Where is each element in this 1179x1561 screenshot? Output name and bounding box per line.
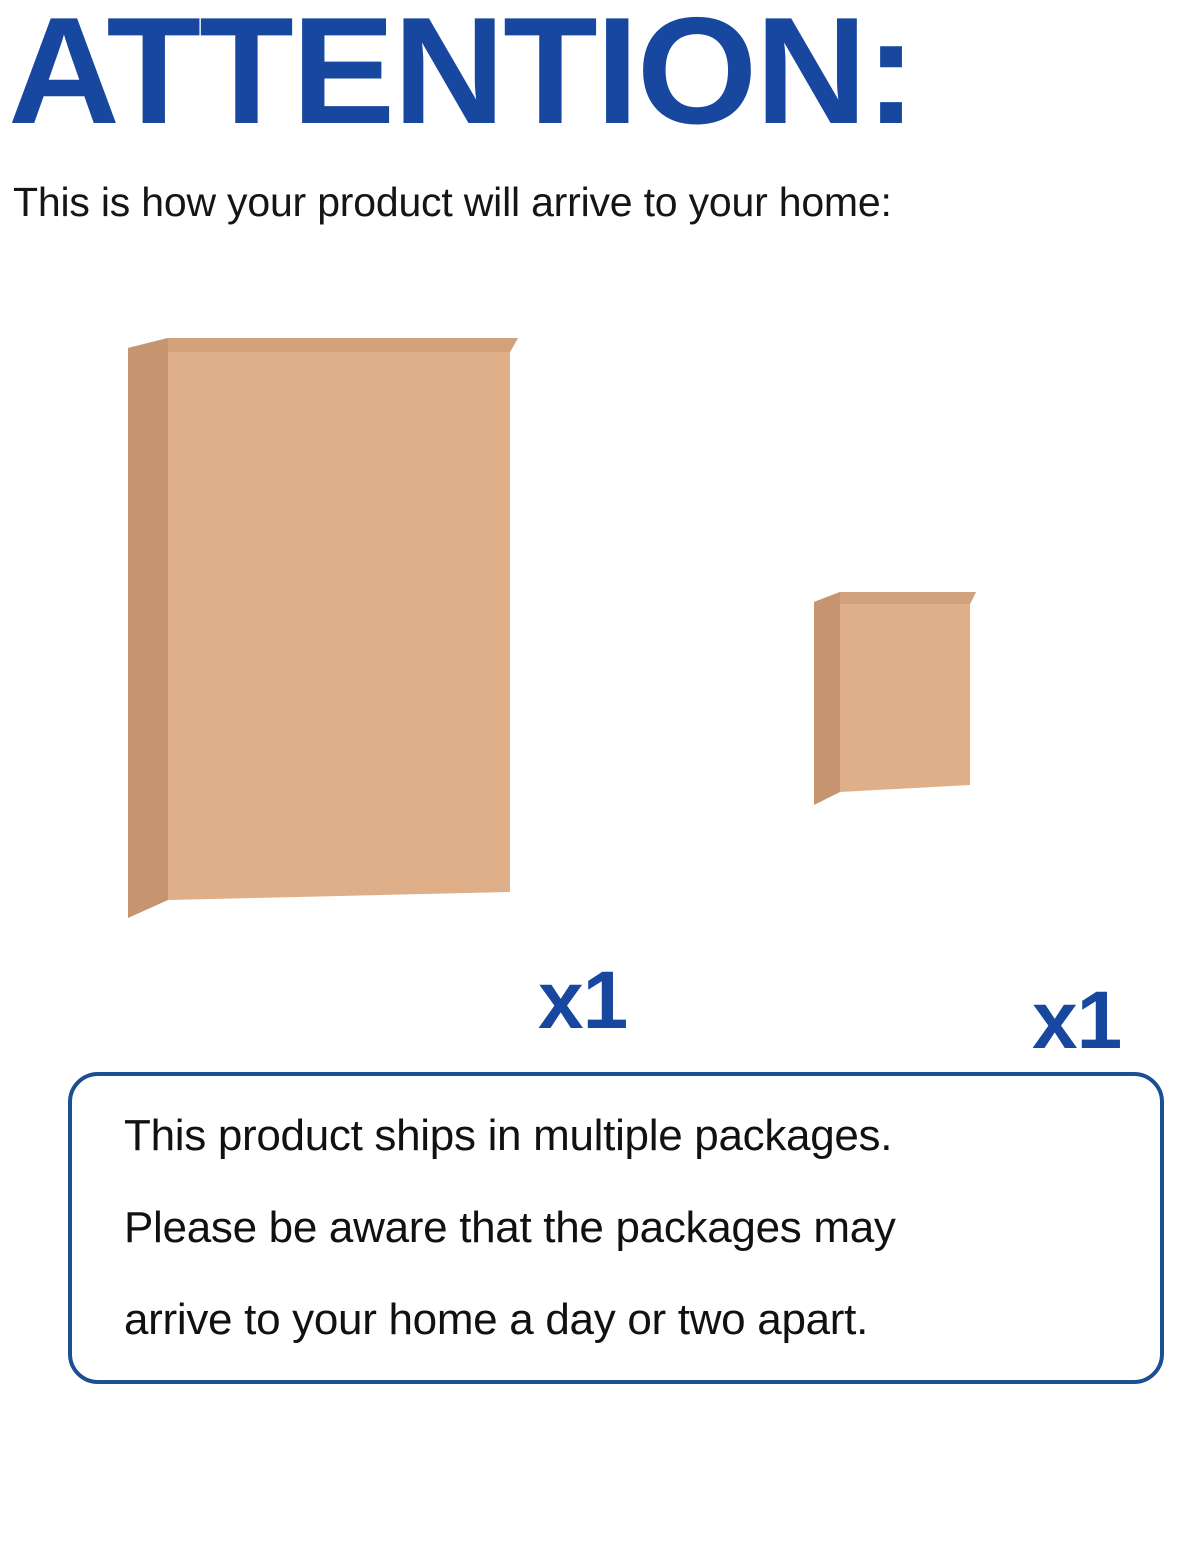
page-title: ATTENTION: xyxy=(8,0,1179,146)
page-subtitle: This is how your product will arrive to … xyxy=(13,178,892,226)
package-item-hook: Hook xyxy=(808,580,988,815)
notice-line: arrive to your home a day or two apart. xyxy=(124,1274,1108,1366)
package-quantity-wall-shelving: x1 xyxy=(538,960,627,1042)
cardboard-box-icon xyxy=(808,580,988,815)
package-item-wall-shelving: Wall Shelving xyxy=(120,310,520,920)
cardboard-box-icon xyxy=(120,310,520,920)
notice-line: Please be aware that the packages may xyxy=(124,1182,1108,1274)
package-illustrations: Wall Shelving Hook x1 x1 xyxy=(0,290,1179,1010)
notice-line: This product ships in multiple packages. xyxy=(124,1090,1108,1182)
shipping-notice-box: This product ships in multiple packages.… xyxy=(68,1072,1164,1384)
package-quantity-hook: x1 xyxy=(1032,980,1121,1062)
